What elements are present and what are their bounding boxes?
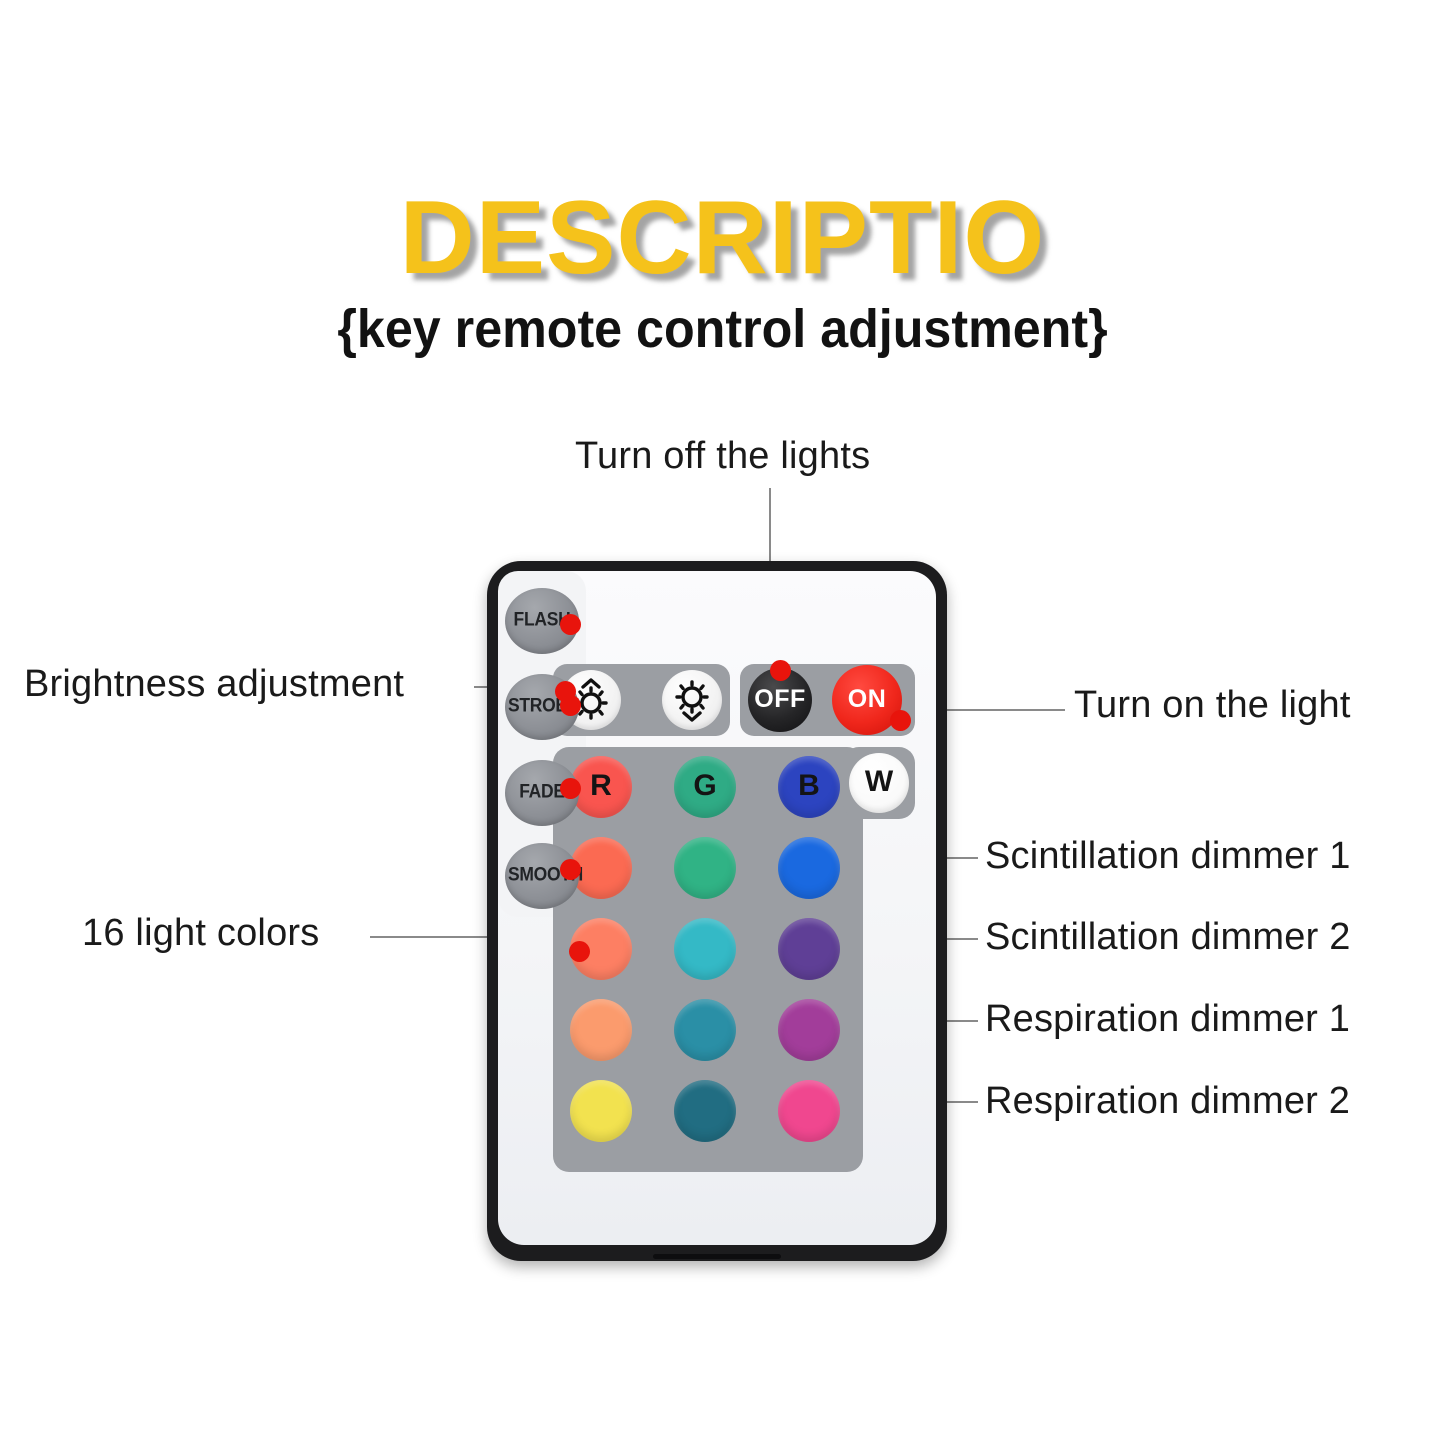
callout-turn-on-light: Turn on the light (1074, 684, 1351, 727)
color-button-w-label: W (849, 765, 909, 799)
color-button-b-label: B (778, 769, 840, 803)
color-button-g[interactable]: G (674, 756, 736, 818)
off-button-label: OFF (748, 685, 812, 714)
callout-dot-strobe (560, 695, 581, 716)
page-title: DESCRIPTIO (0, 186, 1445, 290)
color-button-r4c3[interactable] (778, 999, 840, 1061)
color-button-b[interactable]: B (778, 756, 840, 818)
color-button-r4c2[interactable] (674, 999, 736, 1061)
color-button-r5c2[interactable] (674, 1080, 736, 1142)
callout-scintillation-dimmer-1: Scintillation dimmer 1 (985, 835, 1351, 878)
callout-scintillation-dimmer-2: Scintillation dimmer 2 (985, 916, 1351, 959)
remote-control: OFF ON R G B (487, 561, 947, 1261)
callout-brightness-adjustment: Brightness adjustment (24, 663, 404, 706)
callout-turn-off-lights: Turn off the lights (575, 435, 870, 478)
callout-dot-flash (560, 614, 581, 635)
color-button-r2c3[interactable] (778, 837, 840, 899)
callout-dot-off (770, 660, 791, 681)
callout-respiration-dimmer-1: Respiration dimmer 1 (985, 998, 1350, 1041)
on-button-label: ON (832, 685, 902, 714)
sun-down-icon (662, 670, 722, 730)
callout-dot-smooth (560, 859, 581, 880)
remote-faceplate: OFF ON R G B (498, 571, 936, 1245)
callout-16-light-colors: 16 light colors (82, 912, 319, 955)
color-button-r2c2[interactable] (674, 837, 736, 899)
page-subtitle: {key remote control adjustment} (51, 300, 1395, 359)
color-button-g-label: G (674, 769, 736, 803)
white-button-panel: W (843, 747, 915, 819)
color-button-r3c3[interactable] (778, 918, 840, 980)
power-panel: OFF ON (740, 664, 915, 736)
brightness-down-button[interactable] (662, 670, 722, 730)
callout-dot-colors (569, 941, 590, 962)
color-button-r3c2[interactable] (674, 918, 736, 980)
callout-dot-on (890, 710, 911, 731)
remote-bottom-notch (653, 1254, 782, 1259)
color-grid-panel: R G B (553, 747, 863, 1172)
callout-respiration-dimmer-2: Respiration dimmer 2 (985, 1080, 1350, 1123)
callout-dot-fade (560, 778, 581, 799)
color-button-r4c1[interactable] (570, 999, 632, 1061)
color-button-w[interactable]: W (849, 753, 909, 813)
color-button-r5c3[interactable] (778, 1080, 840, 1142)
color-button-r5c1[interactable] (570, 1080, 632, 1142)
effects-panel: FLASH STROBE FADE SMOOTH (498, 571, 586, 917)
